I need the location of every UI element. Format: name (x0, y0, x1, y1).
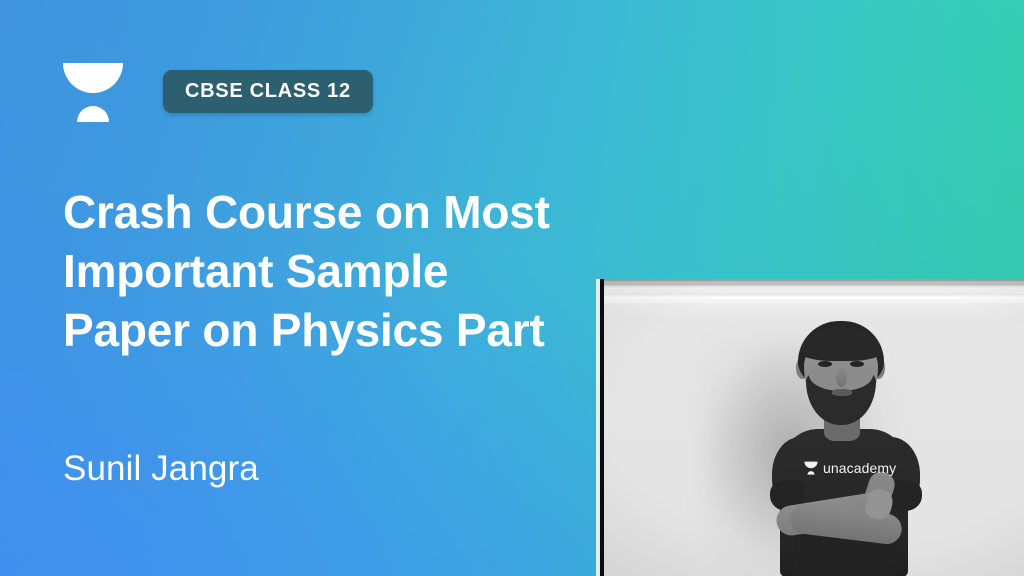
course-thumbnail-card: CBSE CLASS 12 Crash Course on Most Impor… (0, 0, 1024, 576)
page-title: Crash Course on Most Important Sample Pa… (63, 183, 608, 360)
title-line-2: Important Sample (63, 242, 608, 301)
unacademy-bowl-icon (62, 60, 124, 124)
whiteboard-top-frame (604, 279, 1024, 305)
badge-label: CBSE CLASS 12 (185, 80, 351, 103)
educator-figure: unacademy (746, 321, 946, 576)
figure-eye-left (818, 361, 832, 367)
status-badge: CBSE CLASS 12 (163, 70, 373, 113)
figure-mouth (832, 389, 852, 396)
figure-eye-right (850, 361, 864, 367)
educator-photo: unacademy (596, 279, 1024, 576)
educator-name: Sunil Jangra (63, 449, 259, 489)
title-line-1: Crash Course on Most (63, 183, 608, 242)
tee-shirt-wordmark: unacademy (823, 461, 896, 475)
figure-nose (836, 369, 847, 387)
title-line-3: Paper on Physics Part (63, 301, 608, 360)
tee-shirt-brand-lockup: unacademy (804, 461, 896, 475)
unacademy-bowl-icon (804, 461, 818, 475)
